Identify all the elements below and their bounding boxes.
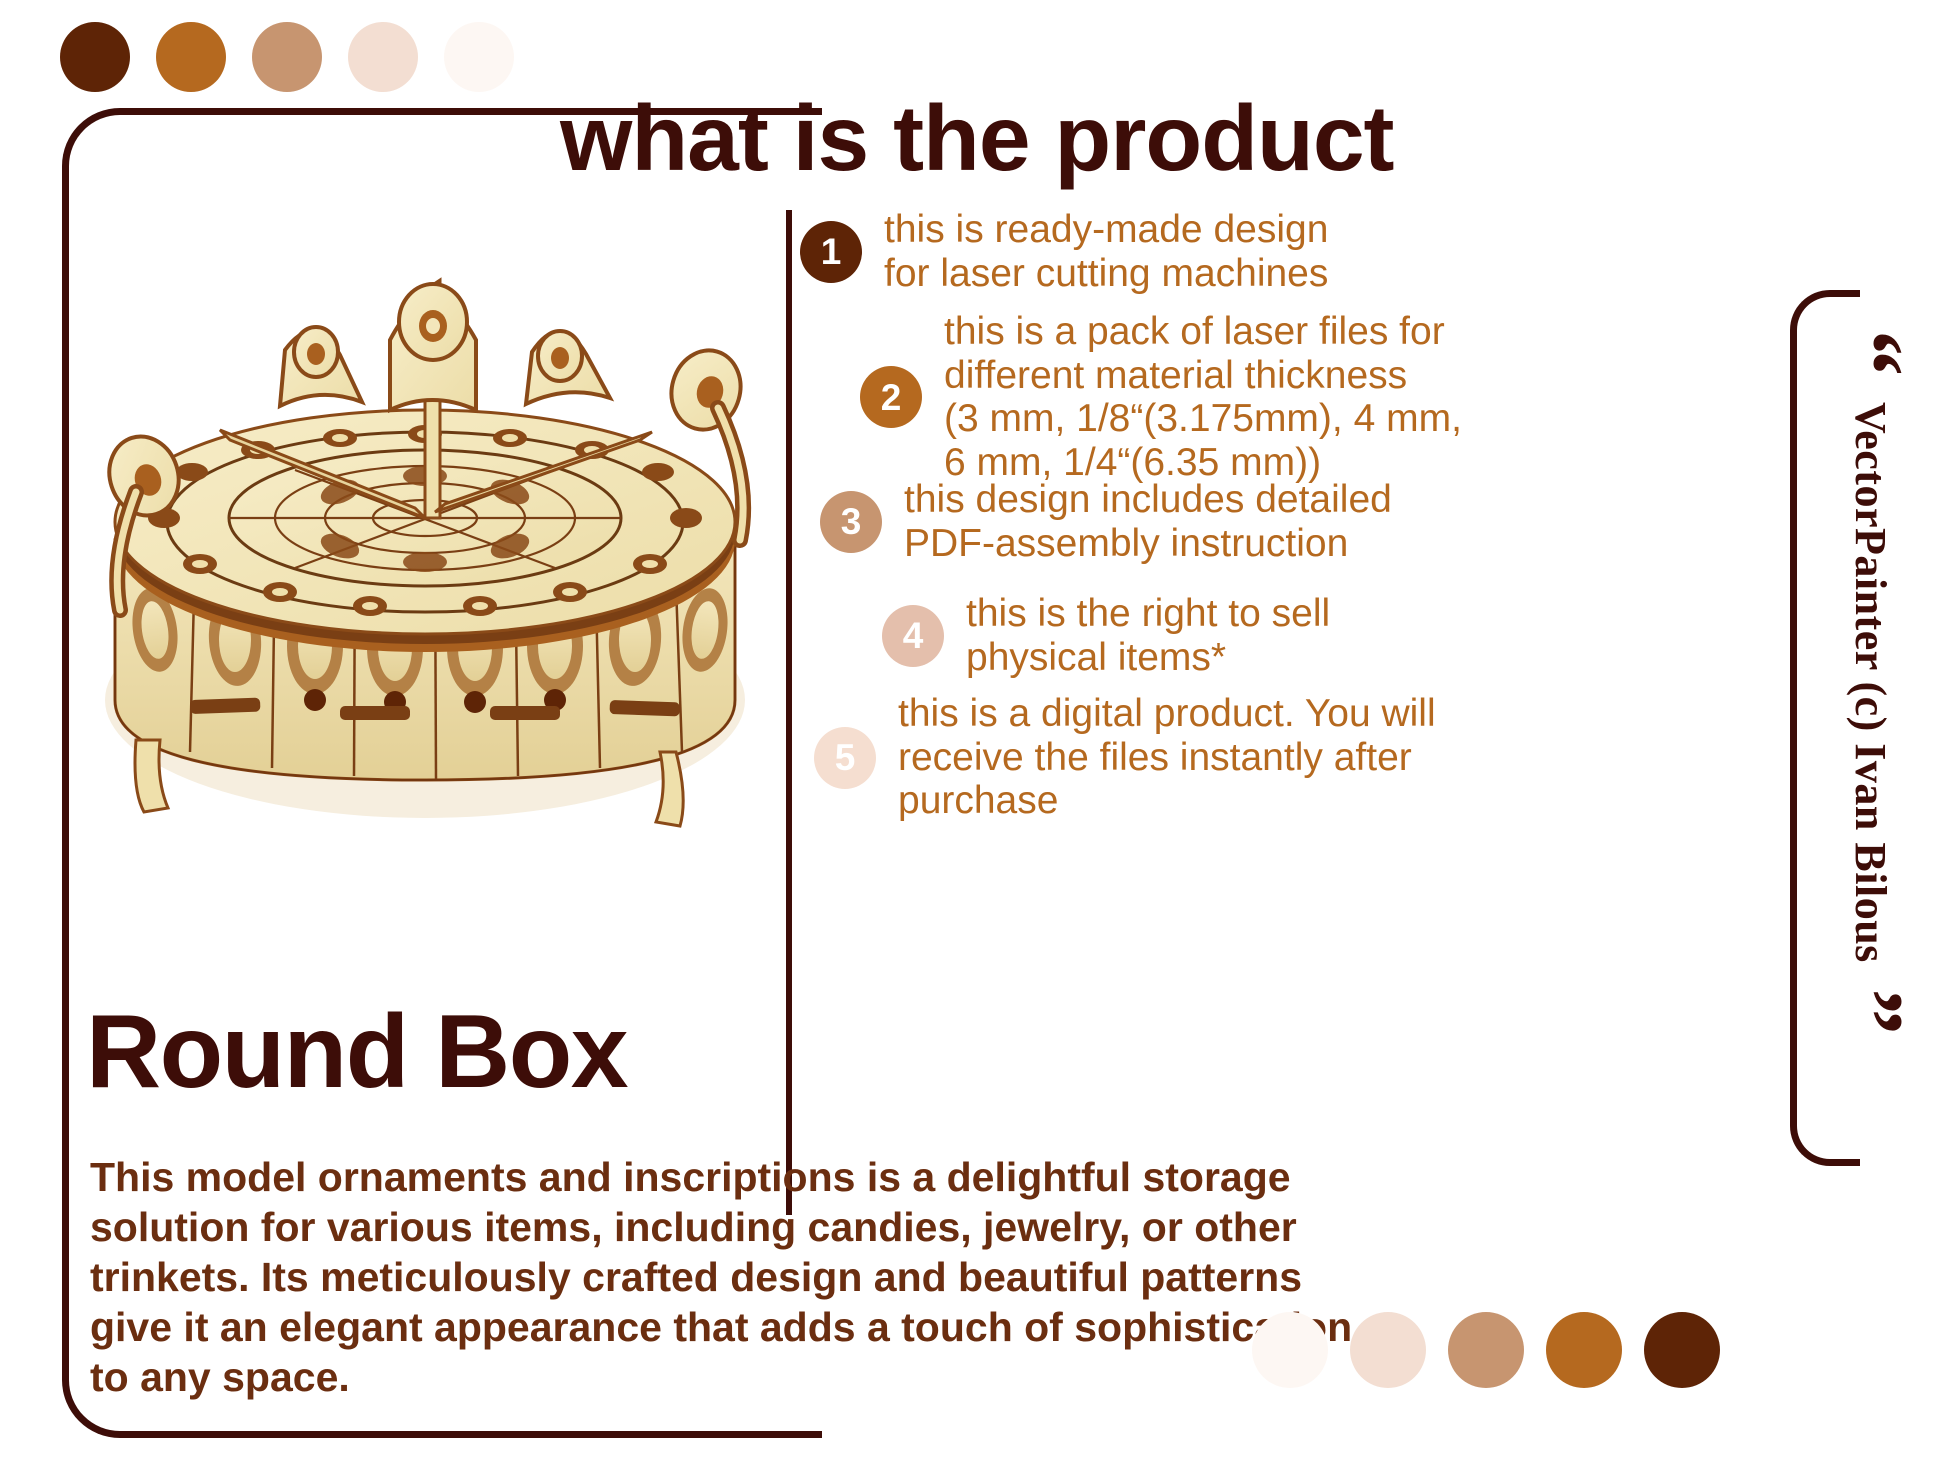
bracket-cap-bottom [1790, 1102, 1860, 1166]
product-illustration [40, 140, 810, 840]
palette-swatch [1350, 1312, 1426, 1388]
palette-swatch [348, 22, 418, 92]
feature-item-2: 2 this is a pack of laser files for diff… [860, 310, 1464, 485]
attribution-text: VectorPainter (c) Ivan Bilous [1845, 402, 1896, 963]
feature-text-5: this is a digital product. You will rece… [898, 692, 1443, 823]
palette-swatches-top [60, 22, 514, 92]
feature-item-5: 5 this is a digital product. You will re… [814, 692, 1443, 823]
feature-text-1: this is ready-made design for laser cutt… [884, 208, 1354, 295]
round-box-icon [40, 140, 810, 840]
feature-badge-4: 4 [882, 605, 944, 667]
feature-badge-1: 1 [800, 221, 862, 283]
palette-swatch [1546, 1312, 1622, 1388]
feature-badge-5: 5 [814, 727, 876, 789]
palette-swatch [1252, 1312, 1328, 1388]
palette-swatch [1644, 1312, 1720, 1388]
feature-text-4: this is the right to sell physical items… [966, 592, 1386, 679]
palette-swatch [252, 22, 322, 92]
feature-item-3: 3 this design includes detailed PDF-asse… [820, 478, 1414, 565]
attribution-block: “ VectorPainter (c) Ivan Bilous ” [1845, 330, 1896, 1030]
vertical-divider [786, 210, 792, 1215]
quote-open-icon: “ [1845, 330, 1896, 376]
feature-badge-2: 2 [860, 366, 922, 428]
feature-badge-3: 3 [820, 491, 882, 553]
bracket-line [1790, 348, 1797, 1108]
palette-swatch [156, 22, 226, 92]
quote-close-icon: ” [1845, 989, 1896, 1035]
product-name: Round Box [86, 1000, 627, 1104]
palette-swatch [1448, 1312, 1524, 1388]
palette-swatches-bottom [1252, 1312, 1720, 1388]
palette-swatch [444, 22, 514, 92]
feature-item-1: 1 this is ready-made design for laser cu… [800, 208, 1354, 295]
palette-swatch [60, 22, 130, 92]
feature-item-4: 4 this is the right to sell physical ite… [882, 592, 1386, 679]
product-description: This model ornaments and inscriptions is… [90, 1152, 1380, 1402]
feature-text-3: this design includes detailed PDF-assemb… [904, 478, 1414, 565]
infographic-canvas: what is the product [0, 0, 1946, 1460]
feature-text-2: this is a pack of laser files for differ… [944, 310, 1464, 485]
